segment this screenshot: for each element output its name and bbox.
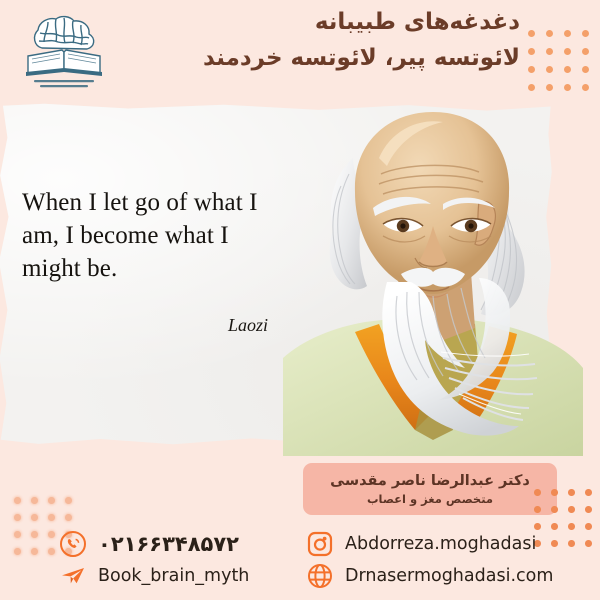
telegram-icon — [58, 561, 88, 591]
header-block: دغدغه‌های طبیبانه لائوتسه پیر، لائوتسه خ… — [150, 4, 520, 76]
telegram-handle: Book_brain_myth — [98, 566, 249, 586]
globe-icon — [305, 561, 335, 591]
brain-book-logo — [18, 8, 110, 94]
contact-row-website[interactable]: Drnasermoghadasi.com — [305, 560, 553, 592]
doctor-badge: دکتر عبدالرضا ناصر مقدسی متخصص مغز و اعص… — [303, 463, 557, 515]
doctor-specialty: متخصص مغز و اعصاب — [367, 491, 493, 507]
contact-column-left: ۰۲۱۶۶۳۴۸۵۷۲ Book_brain_myth — [58, 528, 249, 592]
doctor-name: دکتر عبدالرضا ناصر مقدسی — [330, 472, 530, 491]
dot-grid-top-right — [528, 30, 600, 102]
quote-text: When I let go of what I am, I become wha… — [22, 186, 292, 285]
website-url: Drnasermoghadasi.com — [345, 566, 553, 586]
laozi-portrait — [283, 96, 593, 456]
header-title-line2: لائوتسه پیر، لائوتسه خردمند — [150, 40, 520, 76]
contact-row-instagram[interactable]: Abdorreza.moghadasi — [305, 528, 553, 560]
contact-row-telegram[interactable]: Book_brain_myth — [58, 560, 249, 592]
instagram-handle: Abdorreza.moghadasi — [345, 534, 536, 554]
phone-number: ۰۲۱۶۶۳۴۸۵۷۲ — [98, 532, 239, 556]
quote-author: Laozi — [22, 315, 292, 336]
contact-column-right: Abdorreza.moghadasi Drnasermoghadasi.com — [305, 528, 553, 592]
contact-row-phone[interactable]: ۰۲۱۶۶۳۴۸۵۷۲ — [58, 528, 249, 560]
phone-icon — [58, 529, 88, 559]
quote-block: When I let go of what I am, I become wha… — [22, 186, 292, 336]
header-title-line1: دغدغه‌های طبیبانه — [150, 4, 520, 40]
poster-canvas: دغدغه‌های طبیبانه لائوتسه پیر، لائوتسه خ… — [0, 0, 600, 600]
instagram-icon — [305, 529, 335, 559]
